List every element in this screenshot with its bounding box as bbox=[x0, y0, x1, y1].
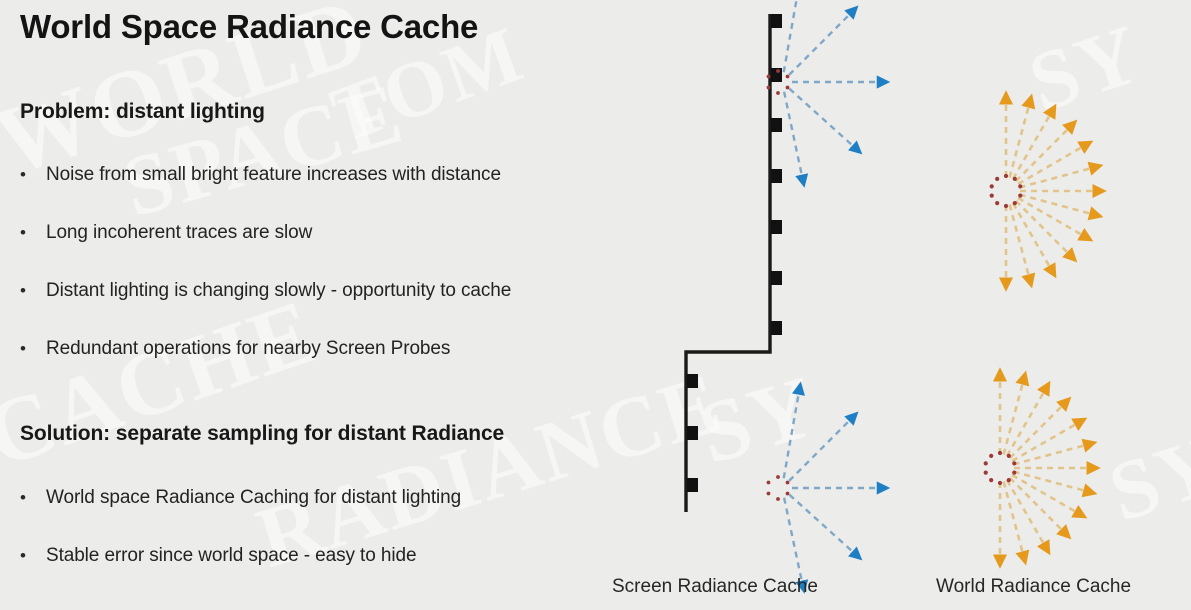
screen-probe-ray bbox=[784, 92, 803, 180]
probe-sample-dot bbox=[776, 69, 780, 73]
probe-sample-dot bbox=[1007, 478, 1011, 482]
world-probe-ray bbox=[1010, 478, 1065, 533]
screen-probe-ray bbox=[784, 0, 800, 72]
probe-sample-dot bbox=[998, 481, 1002, 485]
slide-canvas: WORLD SPACE TOM CACHE RADIANCE SY SY SY … bbox=[0, 0, 1191, 610]
world-probe-dots bbox=[984, 174, 1023, 485]
probe-sample-dot bbox=[1018, 184, 1022, 188]
caption-screen-radiance-cache: Screen Radiance Cache bbox=[612, 576, 818, 598]
probe-sample-dot bbox=[1012, 471, 1016, 475]
world-probe-ray bbox=[1010, 403, 1065, 458]
probe-sample-dot bbox=[767, 492, 771, 496]
probe-sample-dot bbox=[776, 475, 780, 479]
screen-probe-ray bbox=[784, 498, 803, 586]
screen-probe-marker bbox=[771, 14, 782, 28]
probe-sample-dot bbox=[1007, 454, 1011, 458]
probe-sample-dot bbox=[767, 75, 771, 79]
probe-sample-dot bbox=[998, 451, 1002, 455]
screen-probe-ray bbox=[789, 417, 853, 481]
world-probe-ray bbox=[1016, 126, 1071, 181]
screen-probe-ray bbox=[789, 89, 856, 149]
world-probe-rays bbox=[1000, 99, 1098, 560]
screen-probe-ray bbox=[789, 11, 853, 75]
screen-probe-marker bbox=[771, 321, 782, 335]
probe-sample-dot bbox=[995, 177, 999, 181]
screen-probe-marker bbox=[771, 118, 782, 132]
probe-sample-dot bbox=[989, 478, 993, 482]
caption-world-radiance-cache: World Radiance Cache bbox=[936, 576, 1131, 598]
probe-sample-dot bbox=[995, 201, 999, 205]
probe-sample-dot bbox=[990, 194, 994, 198]
probe-sample-dot bbox=[990, 184, 994, 188]
probe-sample-dot bbox=[786, 75, 790, 79]
screen-probe-rays bbox=[784, 0, 882, 586]
probe-sample-dot bbox=[1013, 201, 1017, 205]
probe-sample-dot bbox=[1013, 177, 1017, 181]
probe-sample-dot bbox=[1004, 174, 1008, 178]
screen-probe-marker bbox=[687, 426, 698, 440]
screen-probe-marker bbox=[771, 271, 782, 285]
probe-sample-dot bbox=[1018, 194, 1022, 198]
probe-sample-dot bbox=[776, 91, 780, 95]
probe-sample-dot bbox=[786, 86, 790, 90]
screen-probe-marker bbox=[771, 220, 782, 234]
probe-sample-dot bbox=[767, 481, 771, 485]
probe-sample-dot bbox=[1012, 461, 1016, 465]
screen-probe-marker bbox=[687, 478, 698, 492]
probe-sample-dot bbox=[984, 471, 988, 475]
radiance-cache-diagram bbox=[0, 0, 1191, 610]
probe-sample-dot bbox=[1004, 204, 1008, 208]
screen-probe-marker bbox=[771, 169, 782, 183]
screen-probe-marker bbox=[687, 374, 698, 388]
world-probe-ray bbox=[1016, 201, 1071, 256]
screen-probe-ray bbox=[784, 390, 800, 479]
probe-sample-dot bbox=[776, 497, 780, 501]
probe-sample-dot bbox=[767, 86, 771, 90]
probe-sample-dot bbox=[786, 481, 790, 485]
probe-sample-dot bbox=[984, 461, 988, 465]
probe-sample-dot bbox=[786, 492, 790, 496]
wall-surface-line bbox=[686, 14, 770, 512]
screen-probe-ray bbox=[789, 495, 856, 555]
probe-sample-dot bbox=[989, 454, 993, 458]
